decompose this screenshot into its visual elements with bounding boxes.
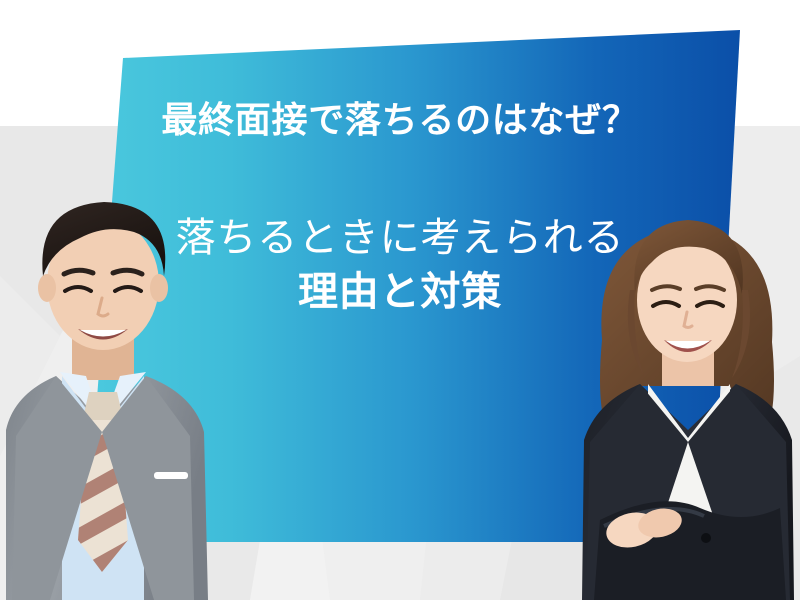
photo-businesswoman-right	[574, 190, 800, 600]
photo-businessman-left	[0, 180, 244, 600]
eyecatch-banner-image: 最終面接で落ちるのはなぜ？ 落ちるときに考えられる 理由と対策	[0, 0, 800, 600]
